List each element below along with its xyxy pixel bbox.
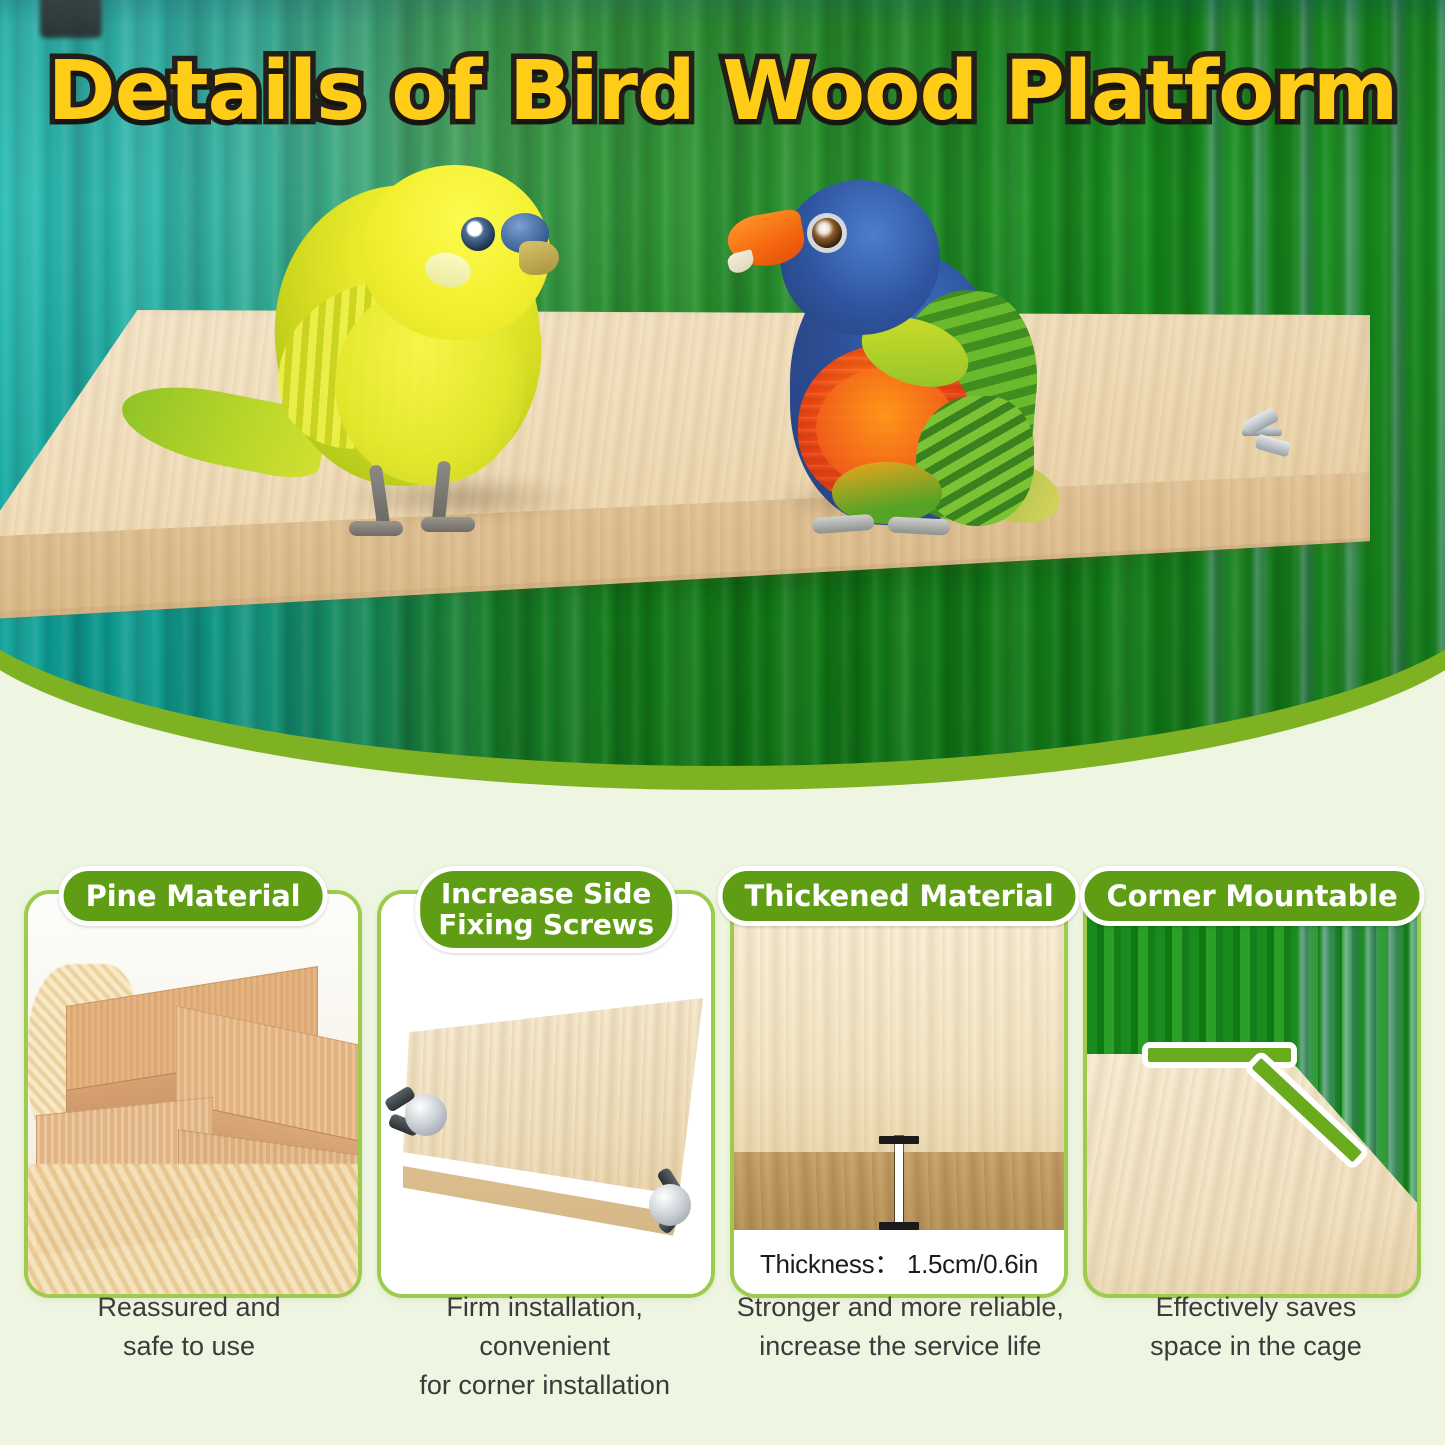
badge-line-2: Fixing Screws [438, 908, 654, 941]
thickness-measure-icon [879, 1136, 919, 1230]
caption-thickened-material: Stronger and more reliable, increase the… [735, 1288, 1065, 1408]
screw-cap [405, 1094, 447, 1136]
wing-nut-screw-icon-right [641, 1180, 691, 1230]
feature-card-row: Pine Material Increase Sid [0, 860, 1445, 1300]
badge-line-1: Increase Side [441, 877, 651, 910]
screw-cap [649, 1184, 691, 1226]
thickness-label: Thickness： 1.5cm/0.6in [760, 1244, 1038, 1281]
measure-cap-top [879, 1136, 919, 1144]
caption-line-1: Reassured and [97, 1292, 280, 1322]
lorikeet-foot-right [888, 516, 951, 535]
lorikeet-eye [812, 218, 842, 248]
budgie-foot-right [421, 517, 475, 532]
budgie-eye [461, 217, 495, 251]
side-fixing-screws-photo [381, 894, 711, 1294]
budgie-foot-left [349, 521, 403, 536]
feature-badge-corner-mountable: Corner Mountable [1080, 866, 1425, 926]
wing-nut-screw-icon-left [397, 1090, 447, 1140]
hero-section: Details of Bird Wood Platform [0, 0, 1445, 790]
page-title: Details of Bird Wood Platform [0, 44, 1445, 139]
wood-shavings-bottom [28, 1164, 358, 1294]
caption-line-2: increase the service life [759, 1331, 1041, 1361]
caption-row: Reassured and safe to use Firm installat… [0, 1288, 1445, 1408]
measure-bar [895, 1136, 903, 1230]
caption-line-1: Effectively saves [1156, 1292, 1357, 1322]
wing-nut-screw-icon [1240, 412, 1314, 472]
lorikeet-beak-tip [726, 249, 756, 275]
caption-side-fixing-screws: Firm installation, convenient for corner… [380, 1288, 710, 1408]
pine-material-photo [28, 894, 358, 1294]
rainbow-lorikeet-bird [720, 170, 1050, 540]
board-top-face [734, 894, 1064, 1152]
measure-cap-bottom [879, 1222, 919, 1230]
caption-pine-material: Reassured and safe to use [24, 1288, 354, 1408]
caption-line-1: Firm installation, convenient [446, 1292, 643, 1361]
lorikeet-head [780, 180, 940, 335]
thickness-label-strip: Thickness： 1.5cm/0.6in [734, 1230, 1064, 1294]
feature-card-side-fixing-screws[interactable]: Increase Side Fixing Screws [377, 890, 715, 1298]
caption-line-2: safe to use [123, 1331, 255, 1361]
budgerigar-bird [125, 165, 595, 540]
thickened-material-photo: Thickness： 1.5cm/0.6in [734, 894, 1064, 1294]
screw-wing-right [1255, 434, 1292, 458]
caption-line-2: for corner installation [419, 1370, 670, 1400]
feature-card-corner-mountable[interactable]: Corner Mountable [1083, 890, 1421, 1298]
feature-card-thickened-material[interactable]: Thickness： 1.5cm/0.6in Thickened Materia… [730, 890, 1068, 1298]
corner-mountable-photo [1087, 894, 1417, 1294]
caption-line-1: Stronger and more reliable, [737, 1292, 1064, 1322]
feature-badge-pine-material: Pine Material [59, 866, 328, 926]
feature-badge-side-fixing-screws: Increase Side Fixing Screws [415, 866, 677, 953]
infographic-page: Details of Bird Wood Platform Pine Mater… [0, 0, 1445, 1445]
corner-angle-bracket-icon [1142, 1042, 1342, 1182]
caption-line-2: space in the cage [1150, 1331, 1362, 1361]
budgie-beak [519, 241, 559, 275]
feature-card-pine-material[interactable]: Pine Material [24, 890, 362, 1298]
lorikeet-foot-left [812, 514, 875, 534]
feature-badge-thickened-material: Thickened Material [717, 866, 1080, 926]
caption-corner-mountable: Effectively saves space in the cage [1091, 1288, 1421, 1408]
